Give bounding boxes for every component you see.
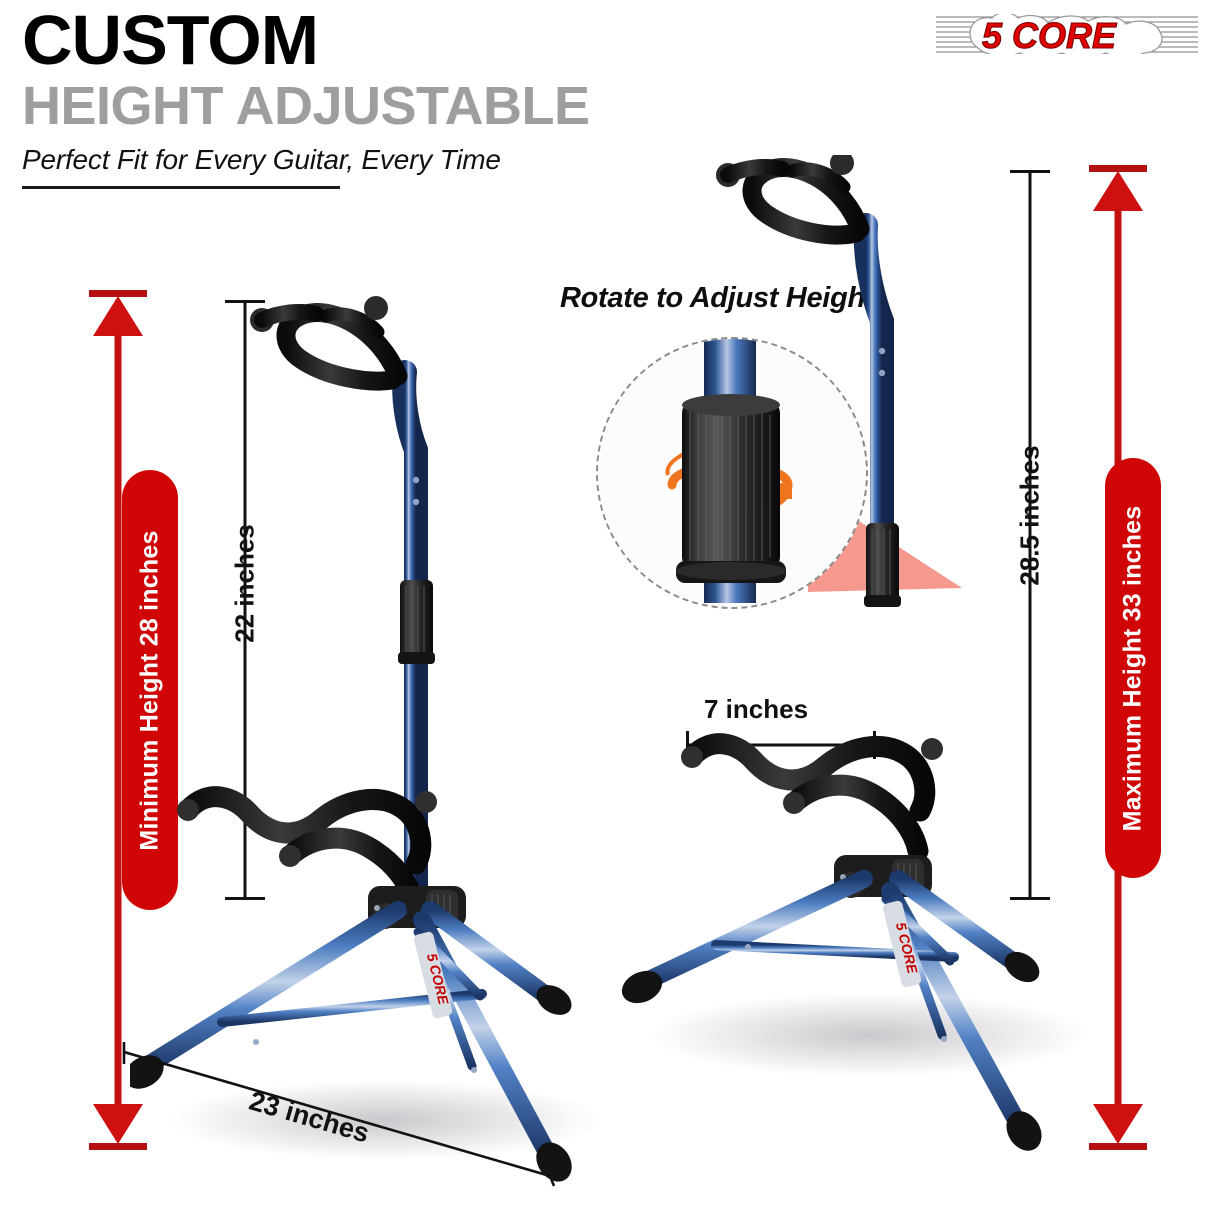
rivet: [879, 348, 885, 354]
max-height-badge: Maximum Height 33 inches: [1105, 458, 1161, 878]
right-body-rest-arms: [681, 738, 943, 851]
rivet: [879, 370, 885, 376]
max-height-label: Maximum Height 33 inches: [1119, 505, 1148, 831]
rivet: [413, 477, 419, 483]
page-subtitle-large: HEIGHT ADJUSTABLE: [22, 79, 782, 133]
left-base-dimension: [110, 1020, 580, 1190]
a11y-left-total: 28 inches: [0, 0, 1, 1]
left-neck-yoke: [250, 296, 398, 381]
brand-wordmark: 5 CORE: [982, 15, 1117, 56]
right-upper-tube: [866, 225, 882, 535]
right-adjust-knob[interactable]: [864, 523, 901, 607]
right-guitar-stand-illustration: 5 CORE: [620, 155, 1090, 1185]
five-core-logo-icon: 5 CORE: [934, 8, 1200, 60]
a11y-brand: 5 CORE: [0, 0, 1, 1]
brand-logo: 5 CORE: [934, 8, 1200, 60]
infographic-canvas: CUSTOM HEIGHT ADJUSTABLE Perfect Fit for…: [0, 0, 1214, 1214]
right-neck-yoke: [716, 155, 860, 235]
floor-shadow: [650, 993, 1090, 1077]
page-title: CUSTOM: [22, 6, 782, 75]
header-divider: [22, 186, 340, 189]
a11y-right-total: 33 inches: [0, 0, 1, 1]
rivet: [413, 499, 419, 505]
left-adjust-knob[interactable]: [398, 580, 435, 664]
